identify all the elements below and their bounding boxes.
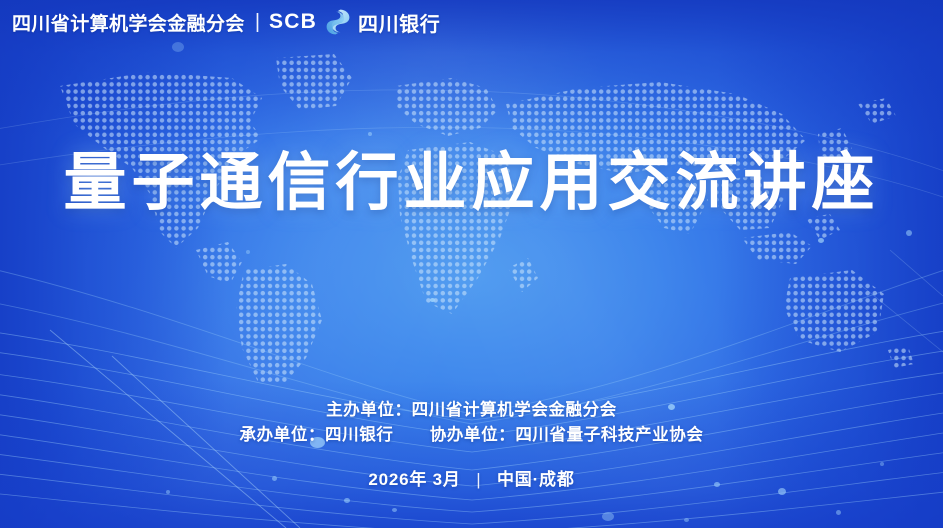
slide-header: 四川省计算机学会金融分会 | SCB 四川银行 [0,0,440,44]
host-organization-text: 主办单位：四川省计算机学会金融分会 [326,401,617,419]
header-separator: | [255,11,260,34]
footer-date-location-line: 2026年 3月 | 中国·成都 [0,465,943,490]
date-location-separator: | [476,470,481,490]
header-bank-name: 四川银行 [358,8,440,37]
slide-title-block: 量子通信行业应用交流讲座 [0,148,943,216]
footer-organizer-line: 承办单位：四川银行 协办单位：四川省量子科技产业协会 [0,423,943,448]
event-location: 中国·成都 [497,470,575,489]
coorganizer-text: 协办单位：四川省量子科技产业协会 [430,426,704,444]
organizer-text: 承办单位：四川银行 [240,426,394,444]
slide-main-title: 量子通信行业应用交流讲座 [64,148,880,216]
header-organization-name: 四川省计算机学会金融分会 [12,9,245,36]
event-date: 2026年 3月 [368,470,460,489]
scb-double-lobe-logo-icon [326,9,350,35]
footer-host-line: 主办单位：四川省计算机学会金融分会 [0,398,943,423]
slide-footer-block: 主办单位：四川省计算机学会金融分会 承办单位：四川银行 协办单位：四川省量子科技… [0,398,943,490]
presentation-slide: 四川省计算机学会金融分会 | SCB 四川银行 [0,0,943,528]
header-brand-abbreviation: SCB [269,10,317,34]
